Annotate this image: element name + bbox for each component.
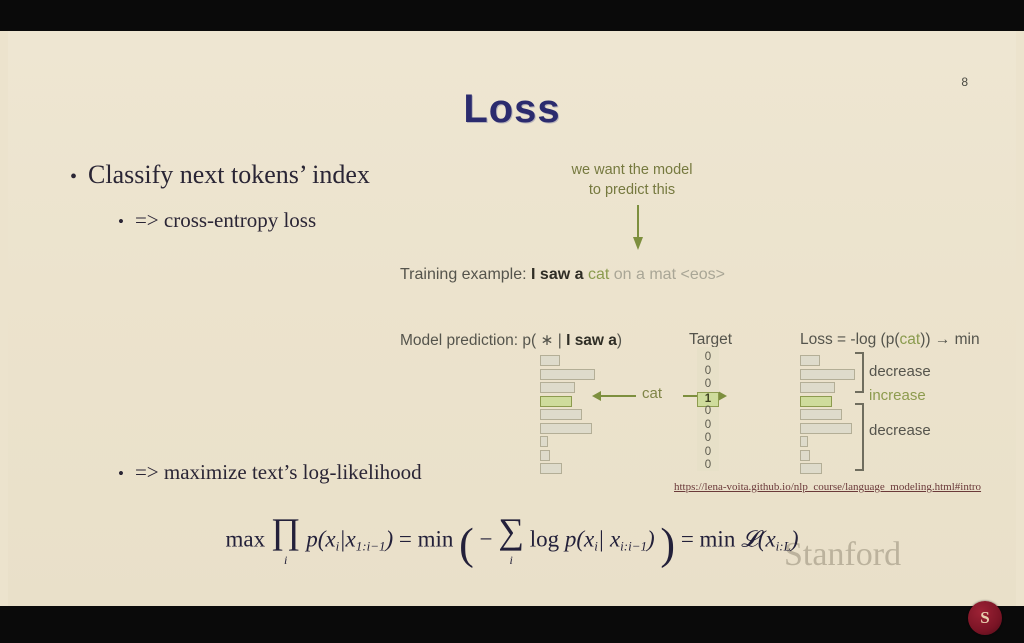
bullet-marker-icon: • bbox=[118, 213, 124, 230]
bar-item bbox=[540, 409, 582, 420]
bar-item bbox=[540, 463, 562, 474]
target-value: 0 bbox=[697, 405, 719, 417]
formula-p1-end: ) bbox=[385, 526, 393, 551]
bullet-item-2: • => cross-entropy loss bbox=[118, 208, 316, 233]
target-value: 0 bbox=[697, 378, 719, 390]
target-value: 0 bbox=[697, 446, 719, 458]
bracket-label-decrease-bottom: decrease bbox=[869, 422, 931, 439]
bullet-item-1: • Classify next tokens’ index bbox=[70, 160, 370, 190]
loss-diagram: we want the model to predict this Traini… bbox=[392, 141, 1024, 481]
model-prediction-header: Model prediction: p( ∗ | I saw a) bbox=[400, 331, 622, 350]
bar-item bbox=[540, 382, 575, 393]
model-prediction-label: Model prediction: bbox=[400, 332, 518, 349]
formula-p2-mid: | x bbox=[598, 526, 620, 551]
target-value: 0 bbox=[697, 365, 719, 377]
formula-p2: p(x bbox=[565, 526, 594, 551]
sum-glyph: ∑ bbox=[498, 511, 524, 551]
sum-index: i bbox=[509, 553, 512, 567]
formula-p2-end: ) bbox=[647, 526, 655, 551]
bracket-decrease-top bbox=[855, 352, 864, 393]
target-value: 0 bbox=[697, 351, 719, 363]
target-value: 0 bbox=[697, 459, 719, 471]
bar-item bbox=[800, 382, 835, 393]
formula-min2: min bbox=[700, 526, 736, 551]
annotation-line-1: we want the model bbox=[532, 160, 732, 180]
bar-item bbox=[800, 355, 820, 366]
bar-item bbox=[540, 436, 548, 447]
bracket-label-increase: increase bbox=[869, 387, 926, 404]
formula-close-paren: ) bbox=[660, 519, 675, 568]
letterbox-top bbox=[0, 0, 1024, 31]
formula-neg: − bbox=[480, 526, 493, 551]
target-value: 0 bbox=[697, 432, 719, 444]
formula-log: log bbox=[530, 526, 559, 551]
model-prediction-expr-suffix: ) bbox=[617, 332, 622, 349]
formula-open-paren: ( bbox=[459, 519, 474, 568]
model-prediction-expr-context: I saw a bbox=[566, 332, 617, 349]
formula-min1: min bbox=[418, 526, 454, 551]
training-example-rest: on a mat <eos> bbox=[614, 266, 725, 283]
cat-label: cat bbox=[642, 385, 662, 402]
formula-p1-mid: |x bbox=[339, 526, 356, 551]
page-title: Loss bbox=[0, 87, 1024, 132]
bar-item bbox=[540, 369, 595, 380]
bar-item bbox=[540, 355, 560, 366]
bar-item bbox=[800, 463, 822, 474]
bar-item bbox=[540, 450, 550, 461]
formula-p1: p(x bbox=[306, 526, 335, 551]
bar-item bbox=[800, 436, 808, 447]
prediction-annotation: we want the model to predict this bbox=[532, 160, 732, 200]
bullet-marker-icon: • bbox=[70, 167, 77, 187]
bar-item bbox=[800, 409, 842, 420]
product-glyph: ∏ bbox=[271, 511, 301, 551]
formula-eq1: = bbox=[399, 526, 412, 551]
bullet-text-3: => maximize text’s log-likelihood bbox=[135, 460, 422, 485]
slide-screen: 8 Loss • Classify next tokens’ index • =… bbox=[0, 0, 1024, 643]
source-url-link[interactable]: https://lena-voita.github.io/nlp_course/… bbox=[674, 481, 981, 493]
loss-suffix: )) → min bbox=[920, 331, 979, 348]
letterbox-bottom bbox=[0, 606, 1024, 643]
loss-header: Loss = -log (p(cat)) → min bbox=[800, 331, 980, 349]
training-example-line: Training example: I saw a cat on a mat <… bbox=[400, 266, 725, 284]
formula-loss-end: ) bbox=[791, 526, 799, 551]
annotation-line-2: to predict this bbox=[532, 180, 732, 200]
product-index: i bbox=[284, 553, 287, 567]
formula-loss-sub: i:L bbox=[776, 538, 791, 553]
formula-p1-sub2: 1:i−1 bbox=[356, 538, 386, 553]
target-value: 0 bbox=[697, 419, 719, 431]
bullet-item-3: • => maximize text’s log-likelihood bbox=[118, 460, 422, 485]
slide-canvas: 8 Loss • Classify next tokens’ index • =… bbox=[0, 31, 1024, 606]
down-arrow-icon bbox=[630, 205, 646, 251]
bracket-label-decrease-top: decrease bbox=[869, 363, 931, 380]
bar-item bbox=[800, 423, 852, 434]
bar-item bbox=[800, 450, 810, 461]
formula-loss: 𝓛(x bbox=[741, 526, 776, 551]
formula-max: max bbox=[225, 526, 265, 551]
formula-eq2: = bbox=[681, 526, 694, 551]
bullet-text-1: Classify next tokens’ index bbox=[88, 160, 370, 190]
bullet-marker-icon: • bbox=[118, 465, 124, 482]
bar-item bbox=[800, 396, 832, 407]
seal-glyph: S bbox=[968, 601, 1002, 635]
target-one-hot-column: 000100000 bbox=[697, 347, 719, 471]
bar-item bbox=[540, 423, 592, 434]
formula-p2-sub2: i:i−1 bbox=[620, 538, 647, 553]
stanford-seal-logo: S bbox=[968, 601, 1002, 635]
training-example-label: Training example: bbox=[400, 266, 527, 283]
bar-item bbox=[800, 369, 855, 380]
bracket-decrease-bottom bbox=[855, 403, 864, 471]
bullet-text-2: => cross-entropy loss bbox=[135, 208, 316, 233]
loss-word: cat bbox=[900, 331, 921, 348]
objective-formula: max ∏ i p(xi|x1:i−1) = min ( − ∑ i log p… bbox=[0, 516, 1024, 569]
loss-prefix: Loss = -log (p( bbox=[800, 331, 900, 348]
training-example-context: I saw a bbox=[531, 266, 583, 283]
bar-item bbox=[540, 396, 572, 407]
formula-product: ∏ i bbox=[271, 516, 301, 566]
formula-sum: ∑ i bbox=[498, 516, 524, 566]
training-example-target: cat bbox=[588, 266, 609, 283]
model-prediction-expr-prefix: p( ∗ | bbox=[522, 332, 566, 349]
